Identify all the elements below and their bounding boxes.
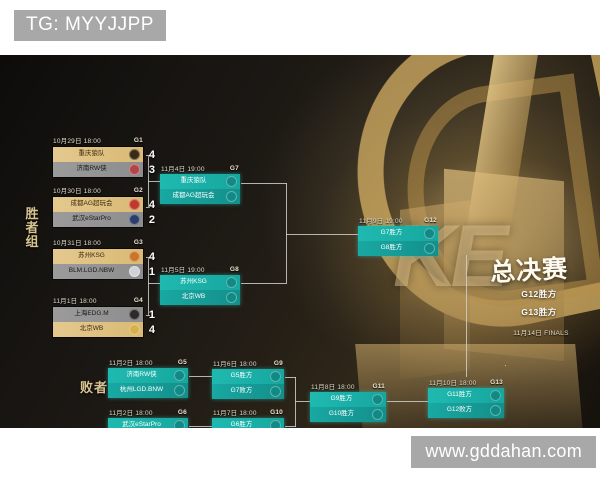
match-card-g6[interactable]: 11月2日 18:00G6武汉eStarPro上海EDG.M <box>108 407 188 428</box>
team-logo-icon <box>174 385 185 396</box>
match-body-g11: G9胜方G10胜方 <box>310 392 386 422</box>
team-name: 重庆狼队 <box>163 178 224 185</box>
team-name: BLM.LGD.NBW <box>56 268 127 275</box>
team-logo-icon <box>226 277 237 288</box>
team-logo-icon <box>270 386 281 397</box>
match-card-g13[interactable]: 11月10日 18:00G13G11胜方G12败方 <box>428 377 504 418</box>
team-logo-icon <box>226 292 237 303</box>
team-score: 2 <box>149 214 155 226</box>
match-code: G3 <box>134 239 143 246</box>
team-row-bottom[interactable]: G10胜方 <box>310 407 386 422</box>
team-name: 北京WB <box>56 326 127 333</box>
match-code: G5 <box>178 359 187 366</box>
match-code: G4 <box>134 297 143 304</box>
team-score: 1 <box>149 266 155 278</box>
match-header-g13: 11月10日 18:00G13 <box>428 377 504 388</box>
match-card-g4[interactable]: 11月1日 18:00G4上海EDG.M1北京WB4 <box>52 295 144 338</box>
match-datetime: 11月2日 18:00 <box>109 407 153 417</box>
team-row-top[interactable]: 苏州KSG4 <box>53 249 143 264</box>
match-datetime: 11月7日 18:00 <box>213 407 257 417</box>
match-code: G10 <box>270 409 283 416</box>
match-card-g1[interactable]: 10月29日 18:00G1重庆狼队4济南RW侠3 <box>52 135 144 178</box>
match-header-g1: 10月29日 18:00G1 <box>52 135 144 146</box>
match-header-g9: 11月6日 18:00G9 <box>212 358 284 369</box>
connector-g7-out <box>241 183 287 184</box>
match-header-g11: 11月8日 18:00G11 <box>310 381 386 392</box>
connector-g11-g13 <box>387 401 428 402</box>
match-header-g2: 10月30日 18:00G2 <box>52 185 144 196</box>
match-datetime: 11月4日 19:00 <box>161 163 205 173</box>
team-logo-icon <box>270 371 281 382</box>
connector-g10-out <box>285 426 296 427</box>
match-card-g10[interactable]: 11月7日 18:00G10G6胜方G8败方 <box>212 407 284 428</box>
connector-g12-down <box>466 255 467 377</box>
match-code: G1 <box>134 137 143 144</box>
team-row-top[interactable]: G5胜方 <box>212 369 284 384</box>
team-logo-icon <box>129 214 140 225</box>
connector-to-g7 <box>148 181 160 182</box>
match-card-g8[interactable]: 11月5日 19:00G8苏州KSG北京WB <box>160 264 240 305</box>
team-name: G7败方 <box>215 388 268 395</box>
team-row-top[interactable]: 重庆狼队4 <box>53 147 143 162</box>
match-code: G13 <box>490 379 503 386</box>
team-row-top[interactable]: 上海EDG.M1 <box>53 307 143 322</box>
team-row-top[interactable]: G11胜方 <box>428 388 504 403</box>
winners-bracket-label: 胜者组 <box>22 207 44 249</box>
team-name: 苏州KSG <box>56 253 127 260</box>
match-body-g2: 成都AG超玩会4武汉eStarPro2 <box>52 196 144 228</box>
team-row-top[interactable]: G6胜方 <box>212 418 284 428</box>
team-row-bottom[interactable]: BLM.LGD.NBW1 <box>53 264 143 279</box>
team-logo-icon <box>270 420 281 428</box>
match-datetime: 11月9日 19:00 <box>359 215 403 225</box>
team-row-bottom[interactable]: G12败方 <box>428 403 504 418</box>
final-slot-bottom: G13胜方 <box>500 303 578 321</box>
match-datetime: 10月31日 18:00 <box>53 237 101 247</box>
match-code: G6 <box>178 409 187 416</box>
team-logo-icon <box>129 149 140 160</box>
team-name: G7胜方 <box>361 230 422 237</box>
team-row-top[interactable]: 苏州KSG <box>160 275 240 290</box>
match-header-g5: 11月2日 18:00G5 <box>108 357 188 368</box>
team-name: 济南RW侠 <box>56 166 127 173</box>
team-name: 武汉eStarPro <box>56 216 127 223</box>
team-logo-icon <box>372 394 383 405</box>
match-code: G8 <box>230 266 239 273</box>
team-logo-icon <box>490 405 501 416</box>
team-logo-icon <box>129 309 140 320</box>
team-score: 4 <box>149 149 155 161</box>
match-code: G7 <box>230 165 239 172</box>
connector-to-g11 <box>295 401 311 402</box>
team-logo-icon <box>129 324 140 335</box>
team-row-bottom[interactable]: G8胜方 <box>358 241 438 256</box>
connector-g7-g12 <box>286 183 287 283</box>
match-datetime: 11月2日 18:00 <box>109 357 153 367</box>
match-header-g10: 11月7日 18:00G10 <box>212 407 284 418</box>
team-name: 成都AG超玩会 <box>56 201 127 208</box>
match-body-g1: 重庆狼队4济南RW侠3 <box>52 146 144 178</box>
team-name: G11胜方 <box>431 392 488 399</box>
team-row-bottom[interactable]: G7败方 <box>212 384 284 399</box>
connector-g8-out <box>241 283 287 284</box>
match-header-g4: 11月1日 18:00G4 <box>52 295 144 306</box>
match-body-g9: G5胜方G7败方 <box>212 369 284 399</box>
team-logo-icon <box>226 191 237 202</box>
match-datetime: 11月6日 18:00 <box>213 358 257 368</box>
match-datetime: 11月10日 18:00 <box>429 377 476 387</box>
match-datetime: 11月8日 18:00 <box>311 381 355 391</box>
connector-g6-g10 <box>189 426 212 427</box>
trophy-bar-upper-decor <box>462 55 538 255</box>
match-code: G9 <box>274 360 283 367</box>
match-datetime: 11月5日 19:00 <box>161 264 205 274</box>
match-body-g10: G6胜方G8败方 <box>212 418 284 428</box>
team-score: 1 <box>149 309 155 321</box>
connector-to-g8 <box>148 283 160 284</box>
grand-final-title: 总决赛 <box>489 249 569 289</box>
tg-tag-label: TG: MYYJJPP <box>14 10 166 41</box>
team-name: 北京WB <box>163 294 224 301</box>
team-logo-icon <box>174 420 185 428</box>
match-body-g12: G7胜方G8胜方 <box>358 226 438 256</box>
team-name: 杭州LGD.BNW <box>111 387 172 394</box>
match-card-g7[interactable]: 11月4日 19:00G7重庆狼队成都AG超玩会 <box>160 163 240 204</box>
match-code: G11 <box>372 383 385 390</box>
grand-final-date: 11月14日 FINALS <box>498 327 584 337</box>
team-row-bottom[interactable]: 济南RW侠3 <box>53 162 143 177</box>
team-name: G10胜方 <box>313 411 370 418</box>
match-body-g8: 苏州KSG北京WB <box>160 275 240 305</box>
team-logo-icon <box>226 176 237 187</box>
site-watermark: www.gddahan.com <box>411 436 596 468</box>
team-logo-icon <box>129 164 140 175</box>
team-logo-icon <box>174 370 185 381</box>
team-row-bottom[interactable]: 北京WB <box>160 290 240 305</box>
match-header-g6: 11月2日 18:00G6 <box>108 407 188 418</box>
match-body-g7: 重庆狼队成都AG超玩会 <box>160 174 240 204</box>
match-code: G12 <box>424 217 437 224</box>
team-row-top[interactable]: 成都AG超玩会4 <box>53 197 143 212</box>
connector-g9-out <box>285 377 296 378</box>
team-logo-icon <box>490 390 501 401</box>
team-logo-icon <box>424 228 435 239</box>
match-code: G2 <box>134 187 143 194</box>
tournament-bracket-poster: KE 胜者组 败者组 10月29日 18:00G1重庆狼队4济南RW侠310月3… <box>0 55 600 428</box>
match-datetime: 10月30日 18:00 <box>53 185 101 195</box>
team-row-bottom[interactable]: 北京WB4 <box>53 322 143 337</box>
final-slot-top: G12胜方 <box>500 285 578 303</box>
team-name: G9胜方 <box>313 396 370 403</box>
match-body-g3: 苏州KSG4BLM.LGD.NBW1 <box>52 248 144 280</box>
team-row-top[interactable]: G7胜方 <box>358 226 438 241</box>
team-name: G5胜方 <box>215 373 268 380</box>
team-score: 3 <box>149 164 155 176</box>
match-card-g2[interactable]: 10月30日 18:00G2成都AG超玩会4武汉eStarPro2 <box>52 185 144 228</box>
team-logo-icon <box>372 409 383 420</box>
team-logo-icon <box>129 199 140 210</box>
team-name: 济南RW侠 <box>111 372 172 379</box>
team-row-top[interactable]: 武汉eStarPro <box>108 418 188 428</box>
match-card-g9[interactable]: 11月6日 18:00G9G5胜方G7败方 <box>212 358 284 399</box>
grand-final-slots: G12胜方 G13胜方 <box>500 285 578 321</box>
team-logo-icon <box>424 243 435 254</box>
match-header-g12: 11月9日 19:00G12 <box>358 215 438 226</box>
team-row-top[interactable]: G9胜方 <box>310 392 386 407</box>
match-card-g11[interactable]: 11月8日 18:00G11G9胜方G10胜方 <box>310 381 386 422</box>
connector-to-g12 <box>286 234 358 235</box>
team-row-bottom[interactable]: 武汉eStarPro2 <box>53 212 143 227</box>
connector-g9-g11-v <box>295 377 296 427</box>
match-datetime: 11月1日 18:00 <box>53 295 97 305</box>
match-body-g6: 武汉eStarPro上海EDG.M <box>108 418 188 428</box>
match-body-g5: 济南RW侠杭州LGD.BNW <box>108 368 188 398</box>
team-row-bottom[interactable]: 杭州LGD.BNW <box>108 383 188 398</box>
match-card-g5[interactable]: 11月2日 18:00G5济南RW侠杭州LGD.BNW <box>108 357 188 398</box>
connector-g13-to-final <box>505 365 506 366</box>
team-score: 4 <box>149 199 155 211</box>
team-name: G12败方 <box>431 407 488 414</box>
team-name: 成都AG超玩会 <box>163 193 224 200</box>
team-score: 4 <box>149 251 155 263</box>
team-name: 苏州KSG <box>163 279 224 286</box>
match-card-g3[interactable]: 10月31日 18:00G3苏州KSG4BLM.LGD.NBW1 <box>52 237 144 280</box>
team-row-top[interactable]: 济南RW侠 <box>108 368 188 383</box>
match-header-g3: 10月31日 18:00G3 <box>52 237 144 248</box>
match-card-g12[interactable]: 11月9日 19:00G12G7胜方G8胜方 <box>358 215 438 256</box>
team-name: 重庆狼队 <box>56 151 127 158</box>
match-body-g4: 上海EDG.M1北京WB4 <box>52 306 144 338</box>
match-datetime: 10月29日 18:00 <box>53 135 101 145</box>
match-body-g13: G11胜方G12败方 <box>428 388 504 418</box>
match-header-g8: 11月5日 19:00G8 <box>160 264 240 275</box>
connector-g5-g9 <box>189 376 212 377</box>
match-header-g7: 11月4日 19:00G7 <box>160 163 240 174</box>
team-score: 4 <box>149 324 155 336</box>
team-row-bottom[interactable]: 成都AG超玩会 <box>160 189 240 204</box>
team-logo-icon <box>129 251 140 262</box>
team-logo-icon <box>129 266 140 277</box>
team-name: G8胜方 <box>361 245 422 252</box>
team-row-top[interactable]: 重庆狼队 <box>160 174 240 189</box>
team-name: 上海EDG.M <box>56 311 127 318</box>
